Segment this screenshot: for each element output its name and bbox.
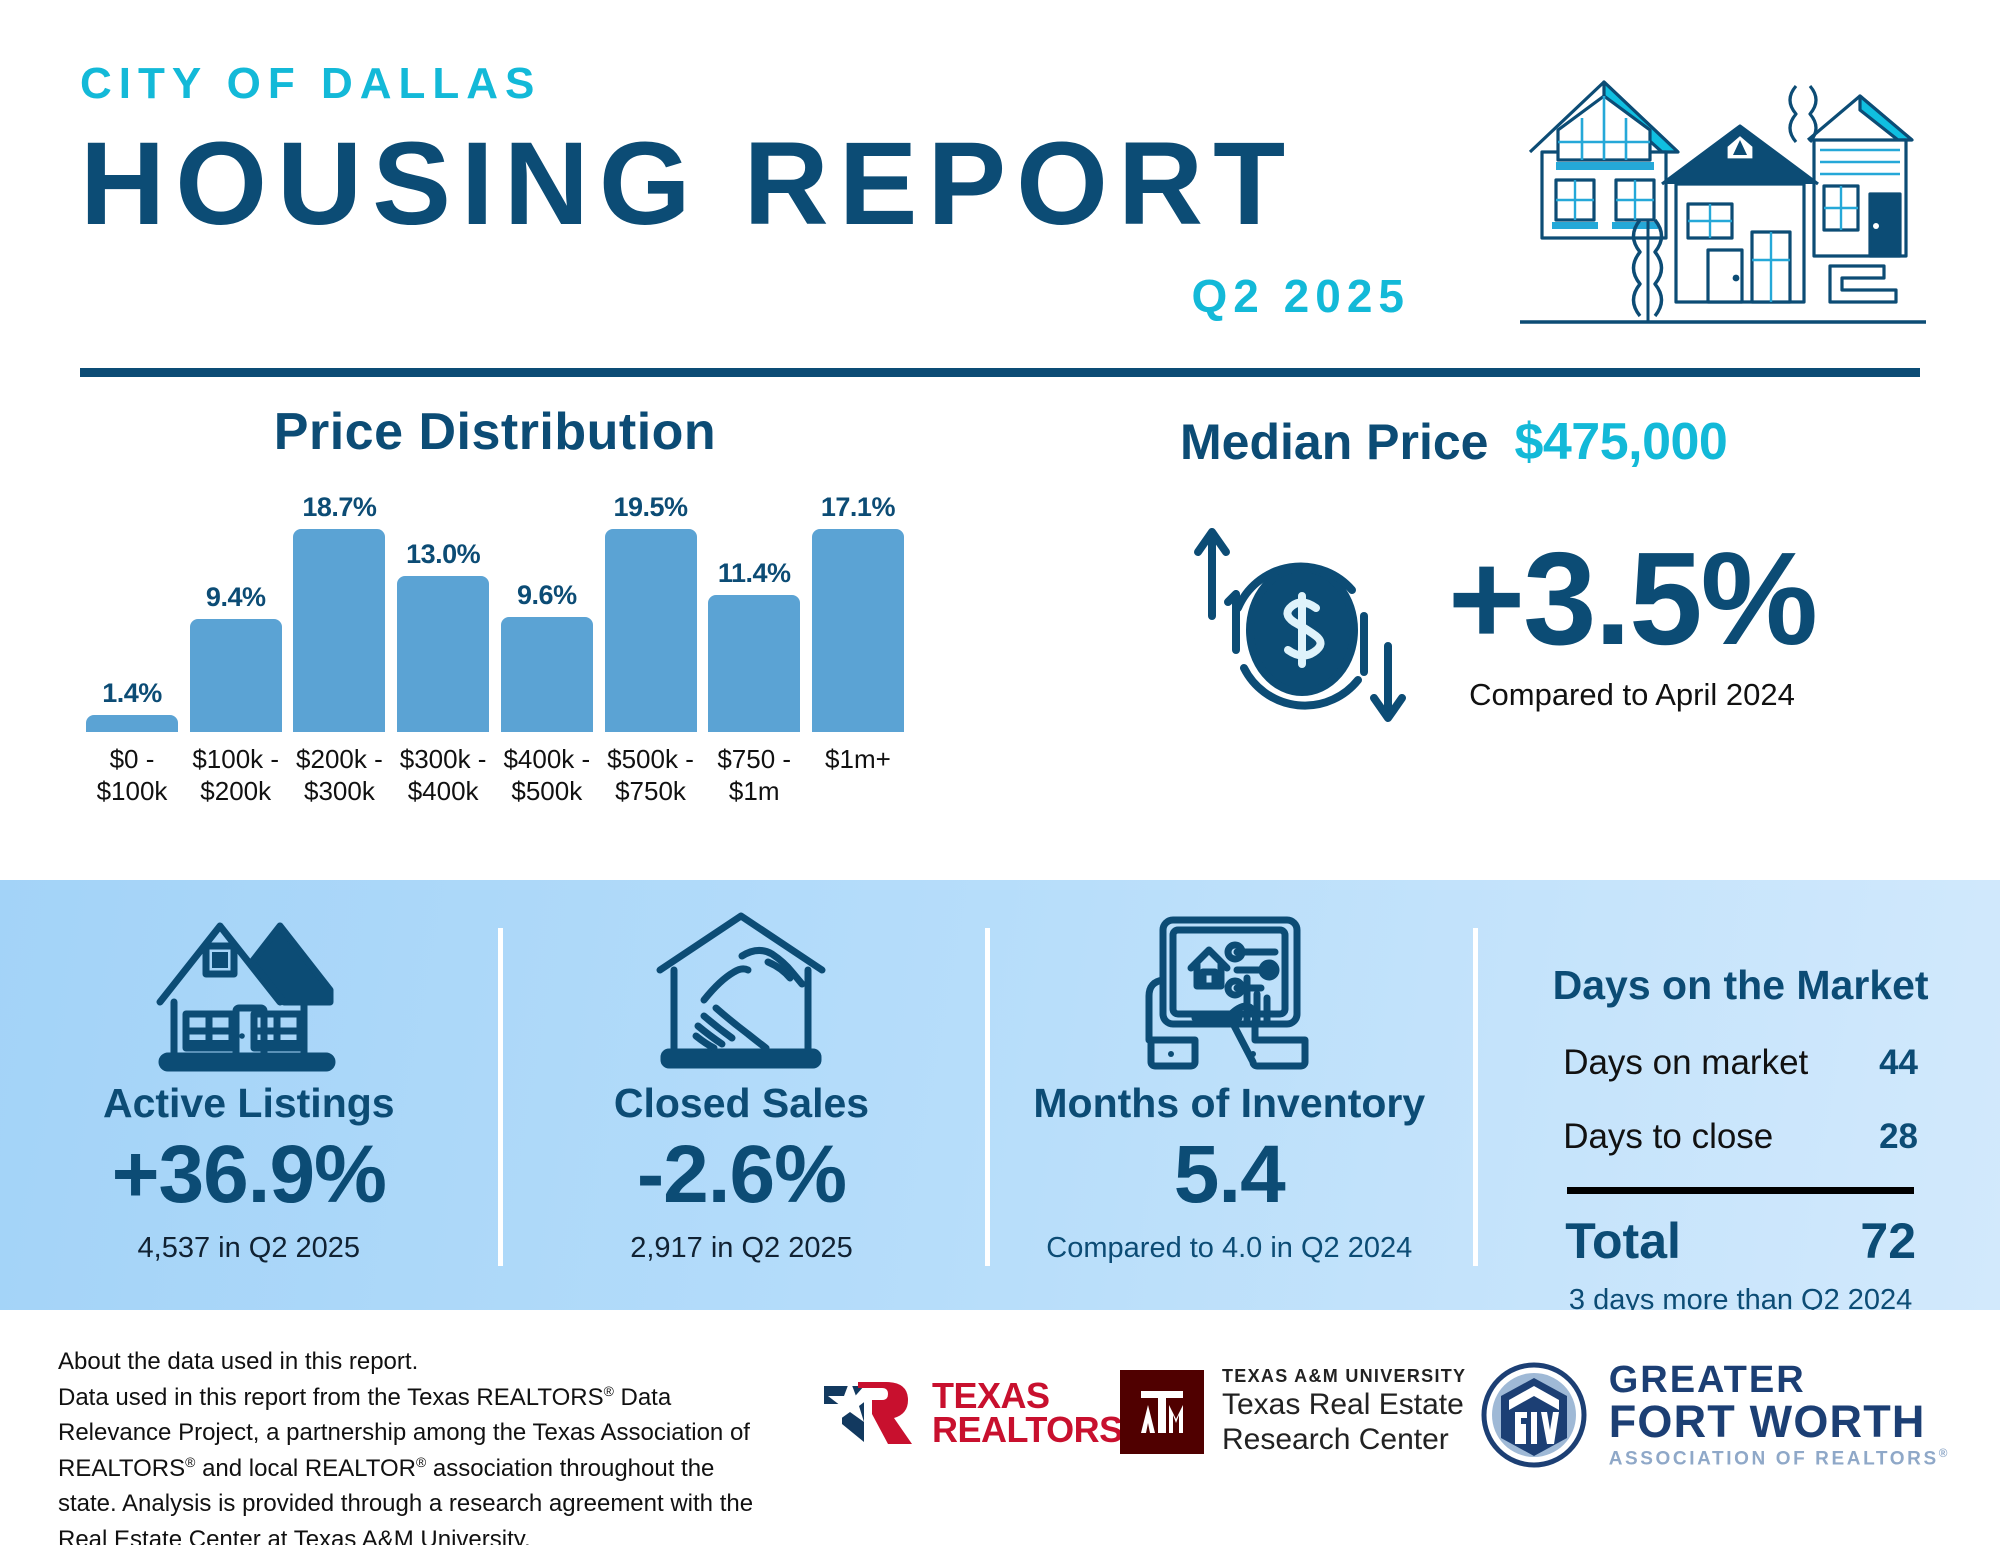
bar-value-label: 1.4% bbox=[102, 678, 162, 709]
stat-divider bbox=[498, 928, 503, 1266]
gfw-circle-icon bbox=[1479, 1360, 1589, 1470]
stat-label: Active Listings bbox=[103, 1080, 395, 1127]
texas-realtors-wordmark: TEXAS REALTORS® bbox=[932, 1379, 1133, 1447]
total-value: 72 bbox=[1860, 1212, 1916, 1270]
registered-mark: ® bbox=[416, 1454, 426, 1470]
x-tick-line2: $500k bbox=[501, 776, 593, 808]
median-price-panel: Median Price $475,000 bbox=[1180, 412, 1970, 748]
bar-column: 9.4% bbox=[190, 492, 282, 732]
texas-realtors-line1: TEXAS bbox=[932, 1379, 1133, 1413]
total-label: Total bbox=[1565, 1212, 1681, 1270]
stat-label: Months of Inventory bbox=[1033, 1080, 1425, 1127]
about-heading: About the data used in this report. bbox=[58, 1344, 778, 1380]
stat-value: +36.9% bbox=[112, 1127, 386, 1224]
bar-rect bbox=[501, 617, 593, 732]
bar-column: 13.0% bbox=[397, 492, 489, 732]
registered-mark: ® bbox=[604, 1383, 614, 1399]
x-tick-line1: $300k - bbox=[397, 744, 489, 776]
x-tick-line1: $750 - bbox=[708, 744, 800, 776]
stat-label: Closed Sales bbox=[614, 1080, 869, 1127]
footer: About the data used in this report. Data… bbox=[0, 1310, 2000, 1545]
x-tick-label: $300k - $400k bbox=[397, 744, 489, 807]
dollar-cycle-icon bbox=[1180, 498, 1430, 748]
greater-fort-worth-logo: GREATER FORT WORTH ASSOCIATION OF REALTO… bbox=[1479, 1360, 1950, 1470]
days-on-market-row: Days to close 28 bbox=[1539, 1117, 1942, 1157]
x-tick-label: $0 - $100k bbox=[86, 744, 178, 807]
x-tick-label: $400k - $500k bbox=[501, 744, 593, 807]
partner-logos: TEXAS REALTORS® TEXAS A&M UNIVERSITY Tex… bbox=[800, 1358, 1960, 1478]
stat-active-listings: Active Listings +36.9% 4,537 in Q2 2025 bbox=[0, 880, 498, 1310]
bar-column: 17.1% bbox=[812, 492, 904, 732]
x-tick-line2: $200k bbox=[190, 776, 282, 808]
x-tick-line1: $500k - bbox=[605, 744, 697, 776]
gfw-line3: ASSOCIATION OF REALTORS® bbox=[1609, 1448, 1950, 1468]
bar-column: 18.7% bbox=[293, 492, 385, 732]
x-tick-line2: $300k bbox=[293, 776, 385, 808]
tamu-line1: TEXAS A&M UNIVERSITY bbox=[1222, 1366, 1466, 1387]
median-price-amount: $475,000 bbox=[1514, 412, 1727, 472]
x-tick-line2: $400k bbox=[397, 776, 489, 808]
about-body-part1: Data used in this report from the Texas … bbox=[58, 1384, 604, 1411]
tamu-line3: Research Center bbox=[1222, 1422, 1466, 1457]
registered-mark: ® bbox=[185, 1454, 195, 1470]
tablet-hands-icon-wrap bbox=[1129, 904, 1329, 1076]
quarter-label: Q2 2025 bbox=[80, 269, 1410, 323]
stat-value: 5.4 bbox=[1174, 1127, 1285, 1224]
row-label: Days to close bbox=[1563, 1117, 1773, 1157]
x-tick-label: $750 - $1m bbox=[708, 744, 800, 807]
median-price-body: +3.5% Compared to April 2024 bbox=[1180, 498, 1970, 748]
stat-sub: 4,537 in Q2 2025 bbox=[138, 1232, 361, 1265]
header-divider bbox=[80, 368, 1920, 377]
house-icon bbox=[144, 904, 354, 1076]
about-data-text: About the data used in this report. Data… bbox=[58, 1344, 778, 1545]
stat-closed-sales: Closed Sales -2.6% 2,917 in Q2 2025 bbox=[498, 880, 986, 1310]
bar-value-label: 9.4% bbox=[206, 582, 266, 613]
texas-realtors-line2: REALTORS® bbox=[932, 1413, 1133, 1447]
stat-value: -2.6% bbox=[637, 1127, 846, 1224]
handshake-house-icon-wrap bbox=[646, 904, 836, 1076]
bar-column: 11.4% bbox=[708, 492, 800, 732]
gfw-line1: GREATER bbox=[1609, 1361, 1950, 1399]
days-on-market-panel: Days on the Market Days on market 44 Day… bbox=[1473, 904, 2000, 1317]
atm-glyph-icon bbox=[1131, 1381, 1193, 1443]
x-tick-label: $500k - $750k bbox=[605, 744, 697, 807]
median-change-block: +3.5% Compared to April 2024 bbox=[1448, 533, 1816, 713]
bar-column: 1.4% bbox=[86, 492, 178, 732]
bar-value-label: 17.1% bbox=[821, 492, 895, 523]
texas-realtors-star-icon bbox=[820, 1374, 916, 1452]
bar-value-label: 18.7% bbox=[302, 492, 376, 523]
about-body: Data used in this report from the Texas … bbox=[58, 1380, 778, 1545]
about-body-part3: and local REALTOR bbox=[195, 1455, 416, 1482]
bar-rect bbox=[812, 529, 904, 732]
bar-rect bbox=[605, 529, 697, 732]
bar-rect bbox=[190, 619, 282, 732]
stats-band: Active Listings +36.9% 4,537 in Q2 2025 bbox=[0, 880, 2000, 1310]
bar-value-label: 9.6% bbox=[517, 580, 577, 611]
days-on-market-total: Total 72 bbox=[1539, 1212, 1942, 1270]
x-tick-label: $200k - $300k bbox=[293, 744, 385, 807]
x-tick-line1: $400k - bbox=[501, 744, 593, 776]
days-on-market-row: Days on market 44 bbox=[1539, 1043, 1942, 1083]
bar-column: 19.5% bbox=[605, 492, 697, 732]
row-value: 44 bbox=[1879, 1043, 1918, 1083]
texas-realtors-logo: TEXAS REALTORS® bbox=[820, 1374, 1133, 1452]
x-tick-label: $1m+ bbox=[812, 744, 904, 807]
x-tick-line1: $0 - bbox=[86, 744, 178, 776]
days-on-market-title: Days on the Market bbox=[1539, 962, 1942, 1009]
days-on-market-divider bbox=[1567, 1187, 1914, 1194]
row-label: Days on market bbox=[1563, 1043, 1808, 1083]
tamu-line2: Texas Real Estate bbox=[1222, 1387, 1466, 1422]
stat-sub: 2,917 in Q2 2025 bbox=[630, 1232, 853, 1265]
median-change-value: +3.5% bbox=[1448, 533, 1816, 665]
housing-report-infographic: CITY OF DALLAS HOUSING REPORT Q2 2025 bbox=[0, 0, 2000, 1545]
x-tick-line1: $200k - bbox=[293, 744, 385, 776]
x-tick-label: $100k - $200k bbox=[190, 744, 282, 807]
x-tick-line1: $100k - bbox=[190, 744, 282, 776]
chart-bars: 1.4% 9.4% 18.7% 13.0% 9.6% bbox=[60, 492, 930, 732]
price-distribution-chart: Price Distribution 1.4% 9.4% 18.7% 13.0% bbox=[60, 402, 930, 807]
stat-divider bbox=[985, 928, 990, 1266]
row-value: 28 bbox=[1879, 1117, 1918, 1157]
bar-value-label: 19.5% bbox=[613, 492, 687, 523]
stat-days-on-market: Days on the Market Days on market 44 Day… bbox=[1473, 880, 2000, 1310]
bar-rect bbox=[397, 576, 489, 732]
chart-title: Price Distribution bbox=[60, 402, 930, 462]
stat-months-of-inventory: Months of Inventory 5.4 Compared to 4.0 … bbox=[985, 880, 1473, 1310]
x-tick-line2: $750k bbox=[605, 776, 697, 808]
houses-illustration-icon bbox=[1512, 34, 1932, 364]
tablet-hands-icon bbox=[1129, 904, 1329, 1076]
house-icon-wrap bbox=[144, 904, 354, 1076]
bar-value-label: 11.4% bbox=[718, 558, 791, 589]
x-tick-line2: $100k bbox=[86, 776, 178, 808]
median-comparison-text: Compared to April 2024 bbox=[1448, 677, 1816, 713]
bar-rect bbox=[293, 529, 385, 732]
median-price-label: Median Price bbox=[1180, 413, 1488, 471]
bar-rect bbox=[708, 595, 800, 732]
texas-am-logo: TEXAS A&M UNIVERSITY Texas Real Estate R… bbox=[1120, 1366, 1466, 1458]
bar-column: 9.6% bbox=[501, 492, 593, 732]
bar-rect bbox=[86, 715, 178, 732]
gfw-line2: FORT WORTH bbox=[1609, 1399, 1950, 1444]
city-eyebrow: CITY OF DALLAS bbox=[80, 62, 1460, 106]
bar-value-label: 13.0% bbox=[406, 539, 480, 570]
header-text-block: CITY OF DALLAS HOUSING REPORT Q2 2025 bbox=[80, 62, 1460, 323]
x-tick-line2: $1m bbox=[708, 776, 800, 808]
middle-section: Price Distribution 1.4% 9.4% 18.7% 13.0% bbox=[0, 390, 2000, 880]
stat-sub: Compared to 4.0 in Q2 2024 bbox=[1046, 1232, 1412, 1265]
texas-am-shield-icon bbox=[1120, 1370, 1204, 1454]
chart-x-axis-labels: $0 - $100k $100k - $200k $200k - $300k $… bbox=[60, 744, 930, 807]
x-tick-line1: $1m+ bbox=[812, 744, 904, 776]
page-title: HOUSING REPORT bbox=[80, 122, 1460, 247]
stat-divider bbox=[1473, 928, 1478, 1266]
median-price-header: Median Price $475,000 bbox=[1180, 412, 1970, 472]
header: CITY OF DALLAS HOUSING REPORT Q2 2025 bbox=[0, 0, 2000, 390]
texas-am-wordmark: TEXAS A&M UNIVERSITY Texas Real Estate R… bbox=[1222, 1366, 1466, 1458]
gfw-wordmark: GREATER FORT WORTH ASSOCIATION OF REALTO… bbox=[1609, 1361, 1950, 1468]
handshake-house-icon bbox=[646, 904, 836, 1076]
